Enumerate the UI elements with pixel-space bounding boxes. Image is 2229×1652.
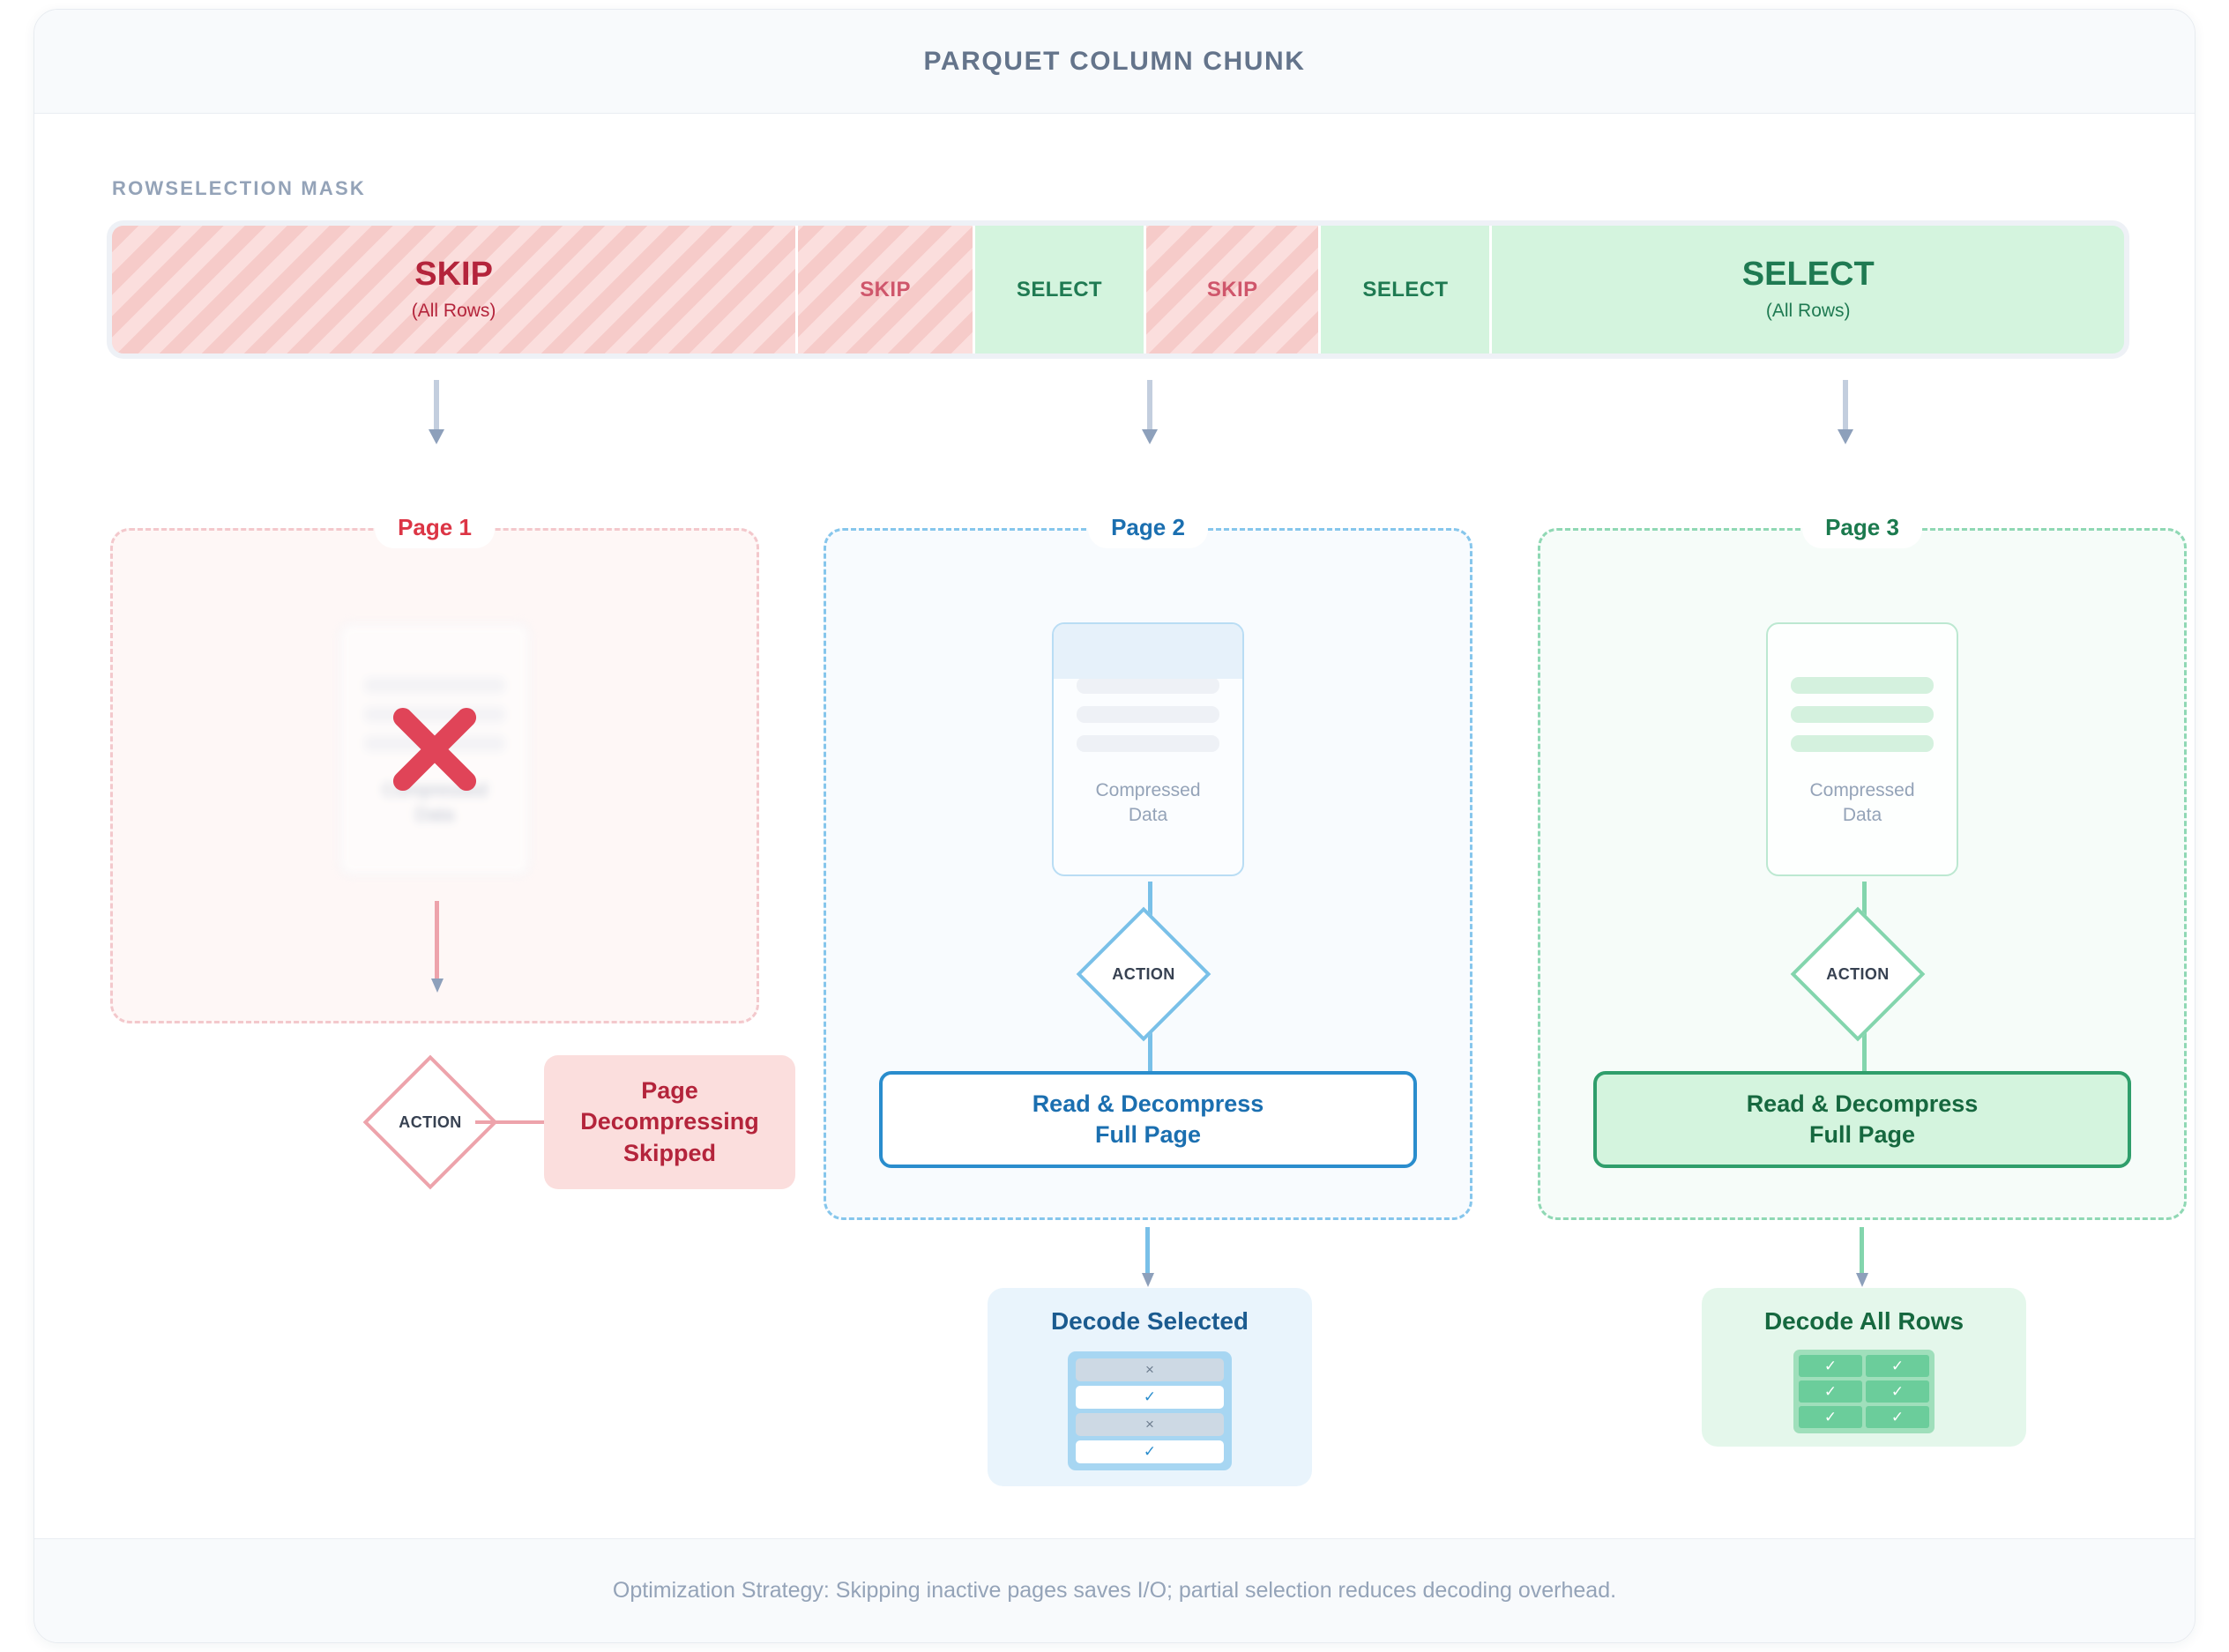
diagram-canvas: PARQUET COLUMN CHUNK ROWSELECTION MASK S… [34,9,2195,1643]
mask-segment-state: SKIP [860,279,911,301]
optimization-strategy-note: Optimization Strategy: Skipping inactive… [613,1578,1616,1604]
result-line-1: Read & Decompress [1747,1089,1979,1120]
placeholder-lines [1054,677,1242,764]
mask-segment-select-2[interactable]: SELECT [1321,226,1492,353]
placeholder-line [1077,706,1219,723]
action-diamond-page2[interactable]: ACTION [1096,926,1191,1022]
placeholder-line [1791,706,1934,723]
action-label: ACTION [1096,926,1191,1022]
connector-page1-card-to-action [431,901,444,979]
placeholder-line [1791,735,1934,752]
action-label: ACTION [383,1075,478,1170]
connector-shaft [1145,1227,1150,1273]
arrow-head [1142,429,1158,444]
mask-segment-select-1[interactable]: SELECT [975,226,1146,353]
connector-page2-read-to-decode [1142,1227,1154,1273]
caption-line-2: Data [1095,803,1200,828]
page-title: PARQUET COLUMN CHUNK [923,47,1305,77]
decode-row: × [1076,1358,1224,1381]
caption-line-1: Compressed [1809,778,1914,803]
mask-segment-skip-2[interactable]: SKIP [798,226,975,353]
mask-segment-skip-1[interactable]: SKIP (All Rows) [112,226,798,353]
mask-segment-state: SELECT [1362,279,1448,301]
mask-segment-state: SKIP [414,257,493,293]
mask-segment-skip-3[interactable]: SKIP [1146,226,1322,353]
result-box-read-decompress-page3[interactable]: Read & Decompress Full Page [1593,1071,2131,1168]
decode-title: Decode Selected [1051,1307,1249,1336]
decode-row-grid: ✓ ✓ ✓ ✓ ✓ ✓ [1793,1350,1935,1433]
decode-cell: ✓ [1799,1355,1862,1377]
page-2-tag: Page 2 [1088,507,1208,548]
caption-line-2: Data [382,803,487,828]
result-line-2: Full Page [1095,1120,1201,1150]
arrow-head [429,429,444,444]
caption-line-1: Compressed [1095,778,1200,803]
compressed-data-card: Compressed Data [1766,622,1958,876]
rowselection-mask-label: ROWSELECTION MASK [112,177,366,200]
x-mark-icon [381,696,488,803]
caption-line-2: Data [1809,803,1914,828]
compressed-data-caption: Compressed Data [1095,778,1200,829]
placeholder-line [1077,735,1219,752]
arrow-shaft [434,380,439,431]
mask-segment-select-3[interactable]: SELECT (All Rows) [1492,226,2124,353]
page-1-data-card-wrapper: Compressed Data [339,622,531,876]
placeholder-lines [1768,677,1957,764]
connector-page3-read-to-decode [1856,1227,1868,1273]
decode-row: ✓ [1076,1386,1224,1409]
placeholder-line [363,677,506,694]
decode-box-all-rows[interactable]: Decode All Rows ✓ ✓ ✓ ✓ ✓ ✓ [1702,1288,2026,1447]
page-1-tag: Page 1 [375,507,495,548]
placeholder-line [1791,677,1934,694]
page-panel-1[interactable]: Page 1 Compressed Data [110,528,759,1023]
result-line-1: Read & Decompress [1032,1089,1264,1120]
header-bar: PARQUET COLUMN CHUNK [34,10,2195,114]
connector-shaft [435,901,439,979]
action-diamond-page3[interactable]: ACTION [1810,926,1905,1022]
decode-cell: ✓ [1866,1355,1929,1377]
footer-bar: Optimization Strategy: Skipping inactive… [34,1538,2195,1642]
result-line-2: Full Page [1809,1120,1915,1150]
arrow-shaft [1843,380,1848,431]
compressed-data-card: Compressed Data [1052,622,1244,876]
decode-row: × [1076,1413,1224,1436]
mask-segment-state: SKIP [1207,279,1258,301]
decode-title: Decode All Rows [1764,1307,1964,1336]
connector-head [431,979,444,993]
rowselection-mask-bar: SKIP (All Rows) SKIP SELECT SKIP SELECT … [112,226,2124,353]
decode-cell: ✓ [1799,1380,1862,1403]
mask-segment-state: SELECT [1742,257,1875,293]
connector-head [1142,1273,1154,1287]
decode-cell: ✓ [1799,1406,1862,1428]
connector-shaft [1860,1227,1864,1273]
decode-box-selected[interactable]: Decode Selected × ✓ × ✓ [988,1288,1312,1486]
result-box-read-decompress-page2[interactable]: Read & Decompress Full Page [879,1071,1417,1168]
decode-row: ✓ [1076,1440,1224,1463]
mask-segment-sub: (All Rows) [1766,301,1851,322]
mask-segment-sub: (All Rows) [412,301,496,322]
connector-head [1856,1273,1868,1287]
action-label: ACTION [1810,926,1905,1022]
mask-segment-state: SELECT [1017,279,1102,301]
compressed-data-caption: Compressed Data [1809,778,1914,829]
page-3-tag: Page 3 [1802,507,1922,548]
decode-cell: ✓ [1866,1380,1929,1403]
decode-row-stack: × ✓ × ✓ [1068,1351,1232,1470]
arrow-head [1838,429,1853,444]
arrow-shaft [1147,380,1152,431]
action-diamond-page1[interactable]: ACTION [383,1075,478,1170]
placeholder-line [1077,677,1219,694]
decode-cell: ✓ [1866,1406,1929,1428]
connector-action-to-skipped [475,1120,546,1124]
result-box-page-decompressing-skipped[interactable]: Page Decompressing Skipped [544,1055,795,1189]
